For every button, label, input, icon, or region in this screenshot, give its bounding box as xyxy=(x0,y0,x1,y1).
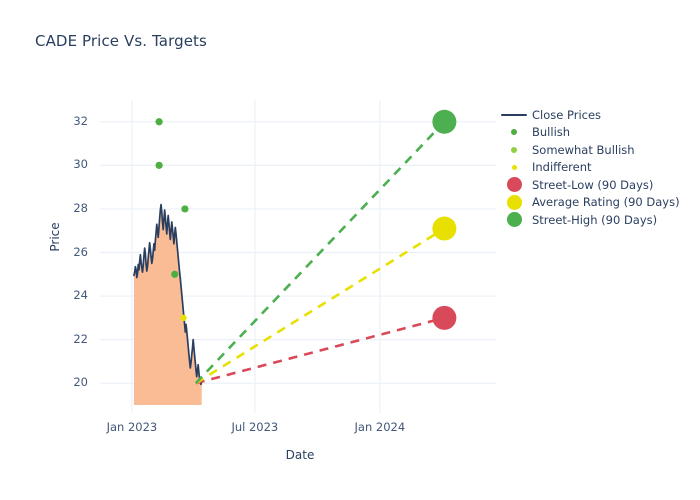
target-marker xyxy=(432,306,456,330)
legend-item-label: Indifferent xyxy=(530,160,592,174)
y-tick-label: 26 xyxy=(48,245,88,259)
y-tick-label: 20 xyxy=(48,375,88,389)
rating-dot xyxy=(180,315,186,321)
y-axis-title: Price xyxy=(48,177,62,297)
legend-dot-icon xyxy=(498,147,530,153)
legend-item-label: Street-Low (90 Days) xyxy=(530,178,653,192)
legend-dot-swatch xyxy=(511,129,517,135)
x-tick-label: Jan 2023 xyxy=(87,420,177,434)
rating-dot xyxy=(181,205,188,212)
legend-item[interactable]: Street-High (90 Days) xyxy=(498,211,698,229)
legend-line-swatch xyxy=(501,114,527,116)
legend-dot-swatch xyxy=(507,195,522,210)
legend-dot-icon xyxy=(498,212,530,227)
legend-item[interactable]: Close Prices xyxy=(498,106,698,124)
legend-item[interactable]: Average Rating (90 Days) xyxy=(498,194,698,212)
target-line xyxy=(196,318,445,383)
legend-dot-swatch xyxy=(507,212,522,227)
legend-dot-swatch xyxy=(512,165,517,170)
legend-item-label: Street-High (90 Days) xyxy=(530,213,657,227)
y-tick-label: 32 xyxy=(48,114,88,128)
legend-dot-icon xyxy=(498,177,530,192)
chart-container: CADE Price Vs. Targets Price Date 202224… xyxy=(0,0,700,500)
legend-item[interactable]: Indifferent xyxy=(498,159,698,177)
legend-item[interactable]: Bullish xyxy=(498,124,698,142)
legend-dot-swatch xyxy=(507,177,522,192)
chart-legend: Close PricesBullishSomewhat BullishIndif… xyxy=(498,106,698,229)
y-tick-label: 28 xyxy=(48,201,88,215)
rating-dot xyxy=(171,271,178,278)
legend-line-icon xyxy=(498,114,530,116)
y-tick-label: 30 xyxy=(48,157,88,171)
x-tick-label: Jul 2023 xyxy=(210,420,300,434)
rating-dot xyxy=(155,118,162,125)
legend-item[interactable]: Somewhat Bullish xyxy=(498,141,698,159)
legend-dot-icon xyxy=(498,195,530,210)
y-tick-label: 24 xyxy=(48,288,88,302)
close-price-area xyxy=(134,205,202,405)
target-marker xyxy=(432,110,456,134)
legend-dot-swatch xyxy=(511,147,517,153)
rating-dot xyxy=(155,162,162,169)
legend-item-label: Average Rating (90 Days) xyxy=(530,195,680,209)
legend-dot-icon xyxy=(498,129,530,135)
x-axis-title: Date xyxy=(0,448,600,462)
legend-dot-icon xyxy=(498,165,530,170)
x-tick-label: Jan 2024 xyxy=(335,420,425,434)
legend-item[interactable]: Street-Low (90 Days) xyxy=(498,176,698,194)
legend-item-label: Close Prices xyxy=(530,108,601,122)
target-marker xyxy=(432,217,456,241)
legend-item-label: Somewhat Bullish xyxy=(530,143,635,157)
y-tick-label: 22 xyxy=(48,332,88,346)
legend-item-label: Bullish xyxy=(530,125,570,139)
